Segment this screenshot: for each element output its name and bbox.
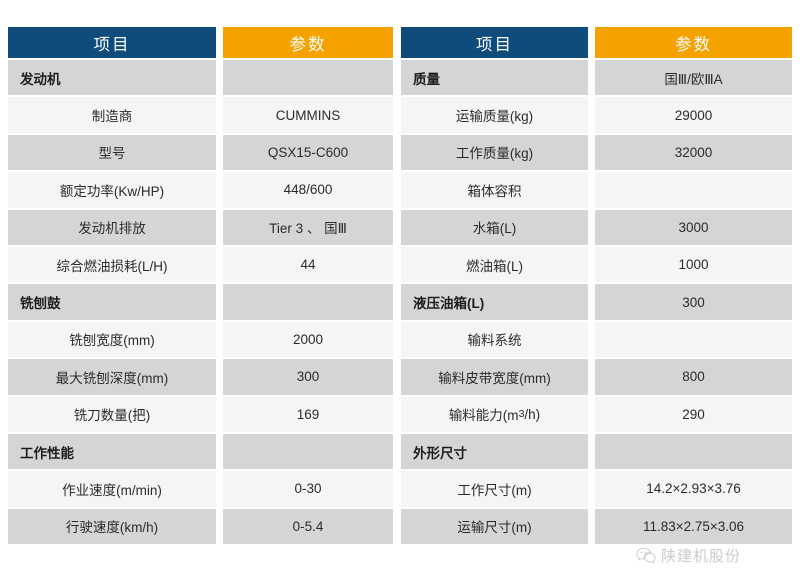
table-row: 行驶速度(km/h)0-5.4	[8, 509, 393, 544]
table-header-row: 项目 参数	[8, 27, 393, 58]
value-cell	[595, 322, 792, 357]
table-row: 工作质量(kg)32000	[401, 135, 792, 170]
value-cell: 29000	[595, 97, 792, 132]
table-row: 型号QSX15-C600	[8, 135, 393, 170]
value-cell: 2000	[223, 322, 393, 357]
item-label-cell: 最大铣刨深度(mm)	[8, 359, 216, 394]
value-cell: QSX15-C600	[223, 135, 393, 170]
value-cell: Tier 3 、 国Ⅲ	[223, 210, 393, 245]
value-cell: 0-30	[223, 471, 393, 506]
table-row: 水箱(L)3000	[401, 210, 792, 245]
item-label-cell: 燃油箱(L)	[401, 247, 588, 282]
section-label-cell: 工作性能	[8, 434, 216, 469]
header-cell-param: 参数	[595, 27, 792, 58]
value-cell: 3000	[595, 210, 792, 245]
table-row: 铣刨鼓	[8, 284, 393, 319]
value-cell: 0-5.4	[223, 509, 393, 544]
value-cell: 14.2×2.93×3.76	[595, 471, 792, 506]
value-cell: 290	[595, 397, 792, 432]
table-row: 输料系统	[401, 322, 792, 357]
item-label-cell: 输料系统	[401, 322, 588, 357]
section-label-cell: 液压油箱(L)	[401, 284, 588, 319]
value-cell	[595, 434, 792, 469]
value-cell: 448/600	[223, 172, 393, 207]
header-cell-item: 项目	[401, 27, 588, 58]
spec-table-left: 项目 参数 发动机制造商CUMMINS型号QSX15-C600额定功率(Kw/H…	[8, 27, 393, 544]
item-label-cell: 运输质量(kg)	[401, 97, 588, 132]
table-row: 制造商CUMMINS	[8, 97, 393, 132]
table-row: 燃油箱(L)1000	[401, 247, 792, 282]
item-label-cell: 输料能力(m3/h)	[401, 397, 588, 432]
watermark-text: 陕建机股份	[661, 545, 741, 566]
value-cell: CUMMINS	[223, 97, 393, 132]
table-row: 综合燃油损耗(L/H)44	[8, 247, 393, 282]
table-row: 工作尺寸(m)14.2×2.93×3.76	[401, 471, 792, 506]
value-cell: 32000	[595, 135, 792, 170]
table-row: 作业速度(m/min)0-30	[8, 471, 393, 506]
spec-table-right: 项目 参数 质量国Ⅲ/欧ⅢA运输质量(kg)29000工作质量(kg)32000…	[401, 27, 792, 544]
item-label-cell: 行驶速度(km/h)	[8, 509, 216, 544]
table-row: 外形尺寸	[401, 434, 792, 469]
table-row: 额定功率(Kw/HP)448/600	[8, 172, 393, 207]
item-label-cell: 综合燃油损耗(L/H)	[8, 247, 216, 282]
item-label-cell: 工作质量(kg)	[401, 135, 588, 170]
table-row: 铣刨宽度(mm)2000	[8, 322, 393, 357]
item-label-cell: 作业速度(m/min)	[8, 471, 216, 506]
table-row: 发动机	[8, 60, 393, 95]
table-header-row: 项目 参数	[401, 27, 792, 58]
item-label-cell: 额定功率(Kw/HP)	[8, 172, 216, 207]
section-label-cell: 发动机	[8, 60, 216, 95]
item-label-cell: 工作尺寸(m)	[401, 471, 588, 506]
section-label-cell: 质量	[401, 60, 588, 95]
header-cell-item: 项目	[8, 27, 216, 58]
header-cell-param: 参数	[223, 27, 393, 58]
value-cell	[595, 172, 792, 207]
watermark: 陕建机股份	[636, 545, 741, 566]
table-row: 发动机排放Tier 3 、 国Ⅲ	[8, 210, 393, 245]
section-label-cell: 铣刨鼓	[8, 284, 216, 319]
value-cell: 300	[223, 359, 393, 394]
wechat-icon	[636, 547, 656, 564]
table-row: 最大铣刨深度(mm)300	[8, 359, 393, 394]
item-label-cell: 输料皮带宽度(mm)	[401, 359, 588, 394]
value-cell	[223, 434, 393, 469]
value-cell: 169	[223, 397, 393, 432]
table-row: 输料皮带宽度(mm)800	[401, 359, 792, 394]
table-row: 输料能力(m3/h)290	[401, 397, 792, 432]
item-label-cell: 水箱(L)	[401, 210, 588, 245]
value-cell: 11.83×2.75×3.06	[595, 509, 792, 544]
table-row: 运输尺寸(m)11.83×2.75×3.06	[401, 509, 792, 544]
value-cell: 1000	[595, 247, 792, 282]
item-label-cell: 制造商	[8, 97, 216, 132]
item-label-cell: 发动机排放	[8, 210, 216, 245]
table-row: 液压油箱(L)300	[401, 284, 792, 319]
item-label-cell: 运输尺寸(m)	[401, 509, 588, 544]
value-cell: 国Ⅲ/欧ⅢA	[595, 60, 792, 95]
item-label-cell: 铣刀数量(把)	[8, 397, 216, 432]
spec-sheet-page: 项目 参数 发动机制造商CUMMINS型号QSX15-C600额定功率(Kw/H…	[0, 0, 800, 572]
table-row: 运输质量(kg)29000	[401, 97, 792, 132]
table-row: 质量国Ⅲ/欧ⅢA	[401, 60, 792, 95]
item-label-cell: 箱体容积	[401, 172, 588, 207]
table-row: 铣刀数量(把)169	[8, 397, 393, 432]
value-cell	[223, 284, 393, 319]
value-cell	[223, 60, 393, 95]
value-cell: 44	[223, 247, 393, 282]
table-row: 箱体容积	[401, 172, 792, 207]
item-label-cell: 型号	[8, 135, 216, 170]
table-row: 工作性能	[8, 434, 393, 469]
section-label-cell: 外形尺寸	[401, 434, 588, 469]
item-label-cell: 铣刨宽度(mm)	[8, 322, 216, 357]
value-cell: 300	[595, 284, 792, 319]
value-cell: 800	[595, 359, 792, 394]
